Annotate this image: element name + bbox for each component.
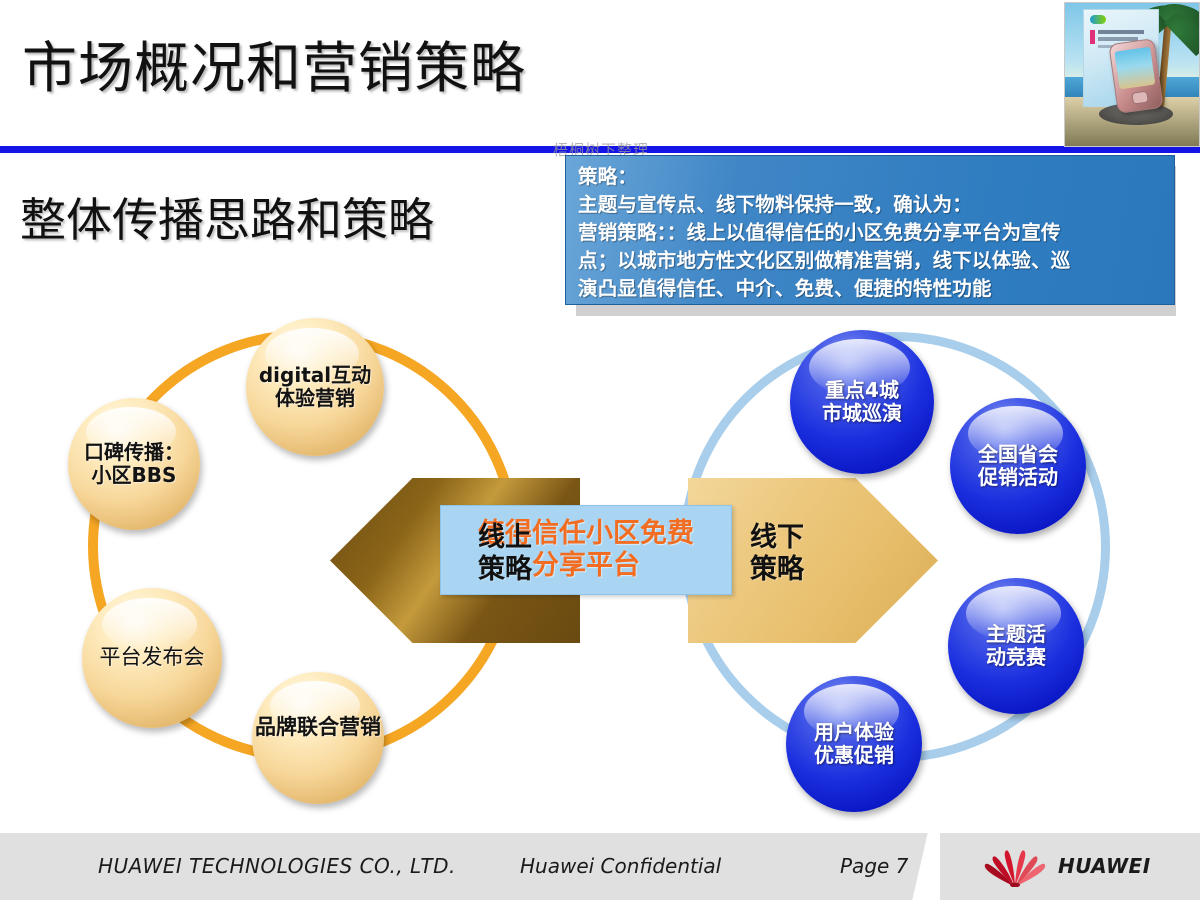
strategy-line: 主题与宣传点、线下物料保持一致，确认为： [578, 191, 1165, 219]
node-line2: 小区BBS [84, 464, 184, 487]
node-line2: 动竞赛 [986, 646, 1046, 669]
online-node-digital[interactable]: digital互动 体验营销 [246, 318, 384, 456]
footer-page-number: Page 7 [840, 833, 908, 900]
node-line1: 平台发布会 [100, 646, 205, 670]
strategy-line: 营销策略：：线上以值得信任的小区免费分享平台为宣传 [578, 219, 1165, 247]
offline-node-user-experience[interactable]: 用户体验 优惠促销 [786, 676, 922, 812]
online-node-launch-event-label: 平台发布会 [100, 646, 205, 670]
online-chevron-line1: 线上 [478, 522, 532, 554]
node-line1: 全国省会 [978, 443, 1058, 466]
offline-node-city-tour[interactable]: 重点4城 市城巡演 [790, 330, 934, 474]
online-node-co-branding-label: 品牌联合营销 [228, 716, 408, 740]
offline-node-province-promo-label: 全国省会 促销活动 [978, 443, 1058, 489]
product-poster-thumbnail [1064, 2, 1200, 147]
carrier-logo-icon [1090, 15, 1106, 24]
phone-screen [1114, 47, 1155, 90]
online-node-bbs-label: 口碑传播： 小区BBS [84, 441, 184, 487]
offline-node-province-promo[interactable]: 全国省会 促销活动 [950, 398, 1086, 534]
strategy-line: 演凸显值得信任、中介、免费、便捷的特性功能 [578, 275, 1165, 303]
offline-chevron-line2: 策略 [750, 554, 804, 586]
node-line1: 品牌联合营销 [228, 716, 408, 740]
section-subtitle: 整体传播思路和策略 [20, 185, 580, 255]
online-node-co-branding[interactable]: 品牌联合营销 [252, 672, 384, 804]
phone-keypad [1131, 91, 1149, 105]
slide-canvas: 市场概况和营销策略 整体传播思路和策略 梧桐树下整理 策略： 主题与宣传点、线下… [0, 0, 1200, 900]
slide-footer: HUAWEI TECHNOLOGIES CO., LTD. Huawei Con… [0, 833, 1200, 900]
page-title: 市场概况和营销策略 [22, 28, 722, 108]
online-chevron-line2: 策略 [478, 554, 532, 586]
strategy-line: 点；以城市地方性文化区别做精准营销，线下以体验、巡 [578, 247, 1165, 275]
node-line1: 重点4城 [822, 379, 902, 402]
phone-device-icon [1108, 38, 1163, 114]
node-line2: 体验营销 [259, 387, 371, 410]
huawei-wordmark: HUAWEI [1058, 833, 1151, 900]
online-node-digital-label: digital互动 体验营销 [259, 364, 371, 410]
strategy-line: 策略： [578, 163, 1165, 191]
poster-text-line [1098, 30, 1144, 34]
sphere-gloss [102, 598, 197, 651]
node-line2: 优惠促销 [814, 744, 894, 767]
huawei-flower-logo-icon [980, 847, 1050, 887]
offline-chevron-label: 线下 策略 [750, 522, 804, 587]
node-line1: digital互动 [259, 364, 371, 387]
online-node-launch-event[interactable]: 平台发布会 [82, 588, 222, 728]
offline-node-city-tour-label: 重点4城 市城巡演 [822, 379, 902, 425]
node-line2: 促销活动 [978, 466, 1058, 489]
online-node-bbs[interactable]: 口碑传播： 小区BBS [68, 398, 200, 530]
node-line1: 用户体验 [814, 721, 894, 744]
node-line1: 主题活 [986, 623, 1046, 646]
node-line2: 市城巡演 [822, 402, 902, 425]
online-chevron-label: 线上 策略 [478, 522, 532, 587]
offline-node-user-experience-label: 用户体验 优惠促销 [814, 721, 894, 767]
offline-chevron-line1: 线下 [750, 522, 804, 554]
offline-node-theme-contest[interactable]: 主题活 动竞赛 [948, 578, 1084, 714]
poster-accent-bar [1090, 30, 1095, 44]
node-line1: 口碑传播： [84, 441, 184, 464]
footer-confidential-text: Huawei Confidential [520, 833, 721, 900]
footer-company-text: HUAWEI TECHNOLOGIES CO., LTD. [98, 833, 456, 900]
strategy-callout-box: 策略： 主题与宣传点、线下物料保持一致，确认为： 营销策略：：线上以值得信任的小… [565, 155, 1175, 305]
offline-node-theme-contest-label: 主题活 动竞赛 [986, 623, 1046, 669]
